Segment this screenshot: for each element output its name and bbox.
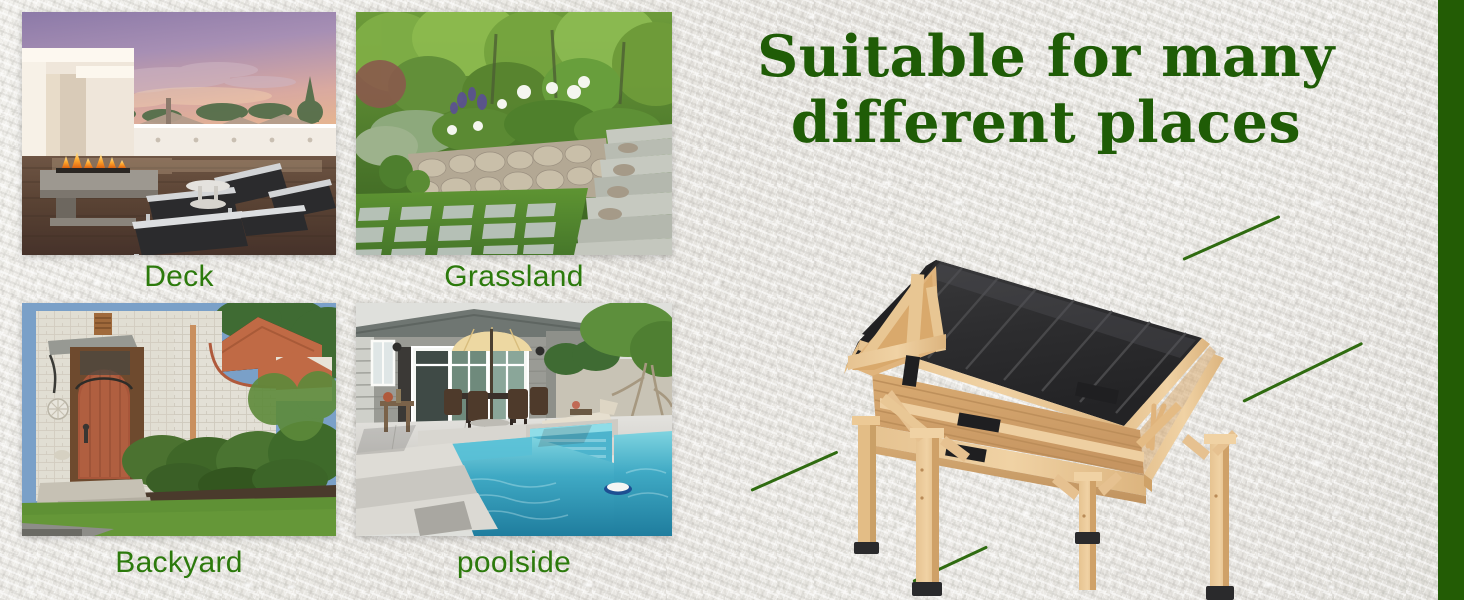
gallery-card-backyard[interactable] — [22, 303, 336, 536]
gallery-card-poolside[interactable] — [356, 303, 672, 536]
gallery-caption-backyard: Backyard — [22, 548, 336, 578]
promo-banner: Deck — [0, 0, 1464, 600]
gallery-caption-poolside: poolside — [356, 548, 672, 578]
gallery-card-grassland[interactable] — [356, 12, 672, 255]
gazebo-illustration — [740, 230, 1420, 600]
photo-backyard — [22, 303, 336, 536]
right-edge-bar — [1438, 0, 1464, 600]
photo-grassland — [356, 12, 672, 255]
gallery-caption-grassland: Grassland — [356, 262, 672, 292]
headline-line-1: Suitable for many — [746, 24, 1346, 90]
photo-poolside — [356, 303, 672, 536]
gallery-caption-deck: Deck — [22, 262, 336, 292]
headline-line-2: different places — [746, 90, 1346, 156]
product-image-gazebo — [740, 230, 1420, 600]
page-title: Suitable for many different places — [746, 24, 1346, 155]
photo-deck — [22, 12, 336, 255]
gallery-card-deck[interactable] — [22, 12, 336, 255]
